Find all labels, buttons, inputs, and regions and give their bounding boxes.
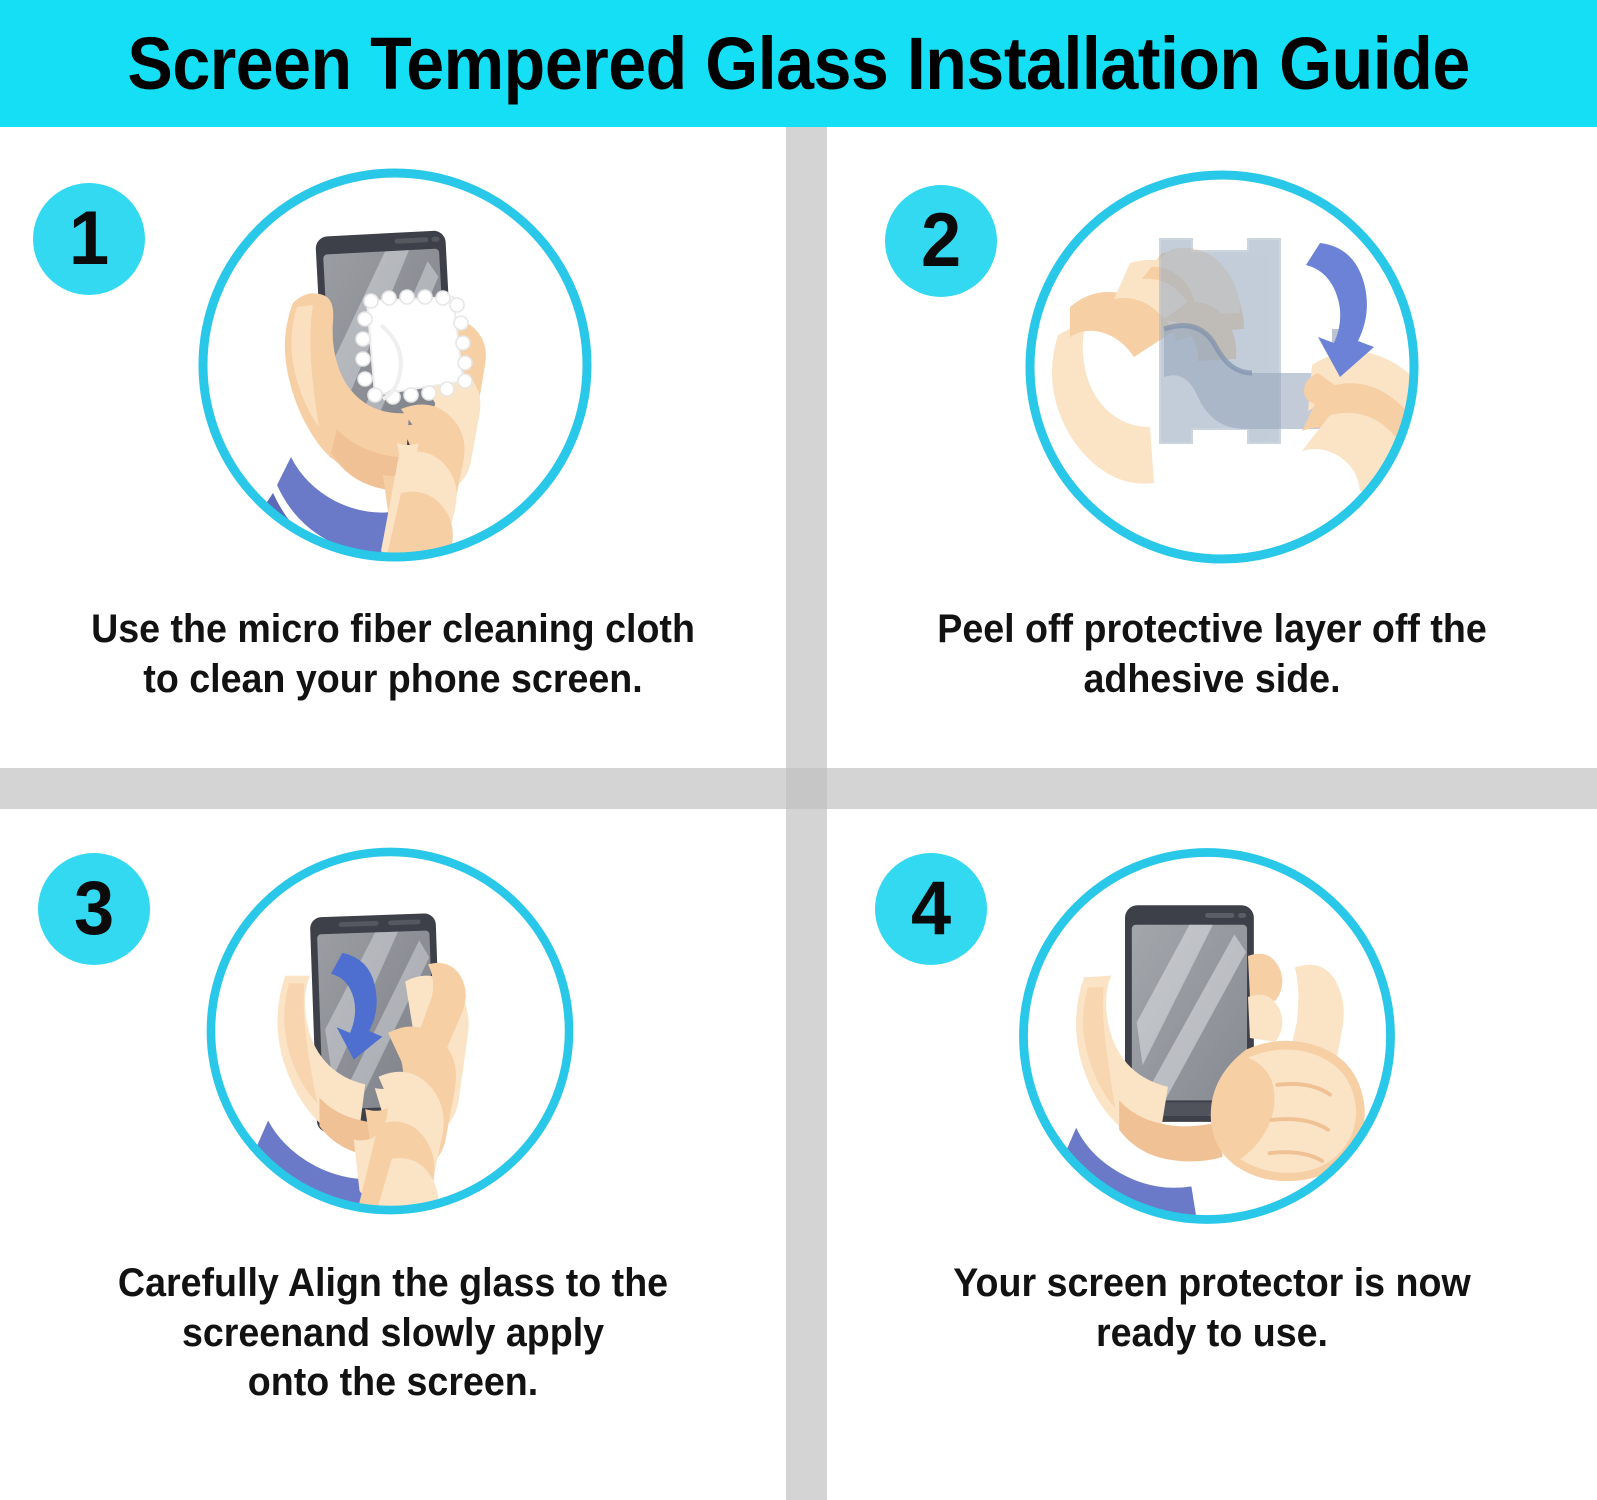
step-illustration-1: [185, 155, 605, 575]
step-number-2: 2: [921, 203, 961, 279]
step-illustration-4: [1002, 831, 1412, 1241]
step-number-3: 3: [74, 871, 114, 947]
step-number-1: 1: [69, 201, 109, 277]
step-illustration-2: [1012, 157, 1432, 577]
horizontal-divider: [0, 768, 1597, 809]
step-caption-3: Carefully Align the glass to the screena…: [24, 1259, 763, 1408]
step-number-4: 4: [911, 871, 951, 947]
vertical-divider: [786, 127, 827, 1500]
header-banner: Screen Tempered Glass Installation Guide: [0, 0, 1597, 127]
step-number-badge-2: 2: [885, 185, 997, 297]
step-panel-1: 1: [0, 127, 786, 768]
installation-guide-page: Screen Tempered Glass Installation Guide…: [0, 0, 1597, 1500]
step-illustration-3: [190, 831, 590, 1231]
step-panel-3: 3: [0, 809, 786, 1500]
step-caption-2: Peel off protective layer off the adhesi…: [850, 605, 1574, 704]
step-panel-4: 4: [827, 809, 1597, 1500]
page-title: Screen Tempered Glass Installation Guide: [127, 27, 1469, 101]
step-number-badge-1: 1: [33, 183, 145, 295]
step-number-badge-3: 3: [38, 853, 150, 965]
step-number-badge-4: 4: [875, 853, 987, 965]
step-caption-4: Your screen protector is now ready to us…: [850, 1259, 1574, 1358]
step-panel-2: 2: [827, 127, 1597, 768]
step-caption-1: Use the micro fiber cleaning cloth to cl…: [24, 605, 763, 704]
